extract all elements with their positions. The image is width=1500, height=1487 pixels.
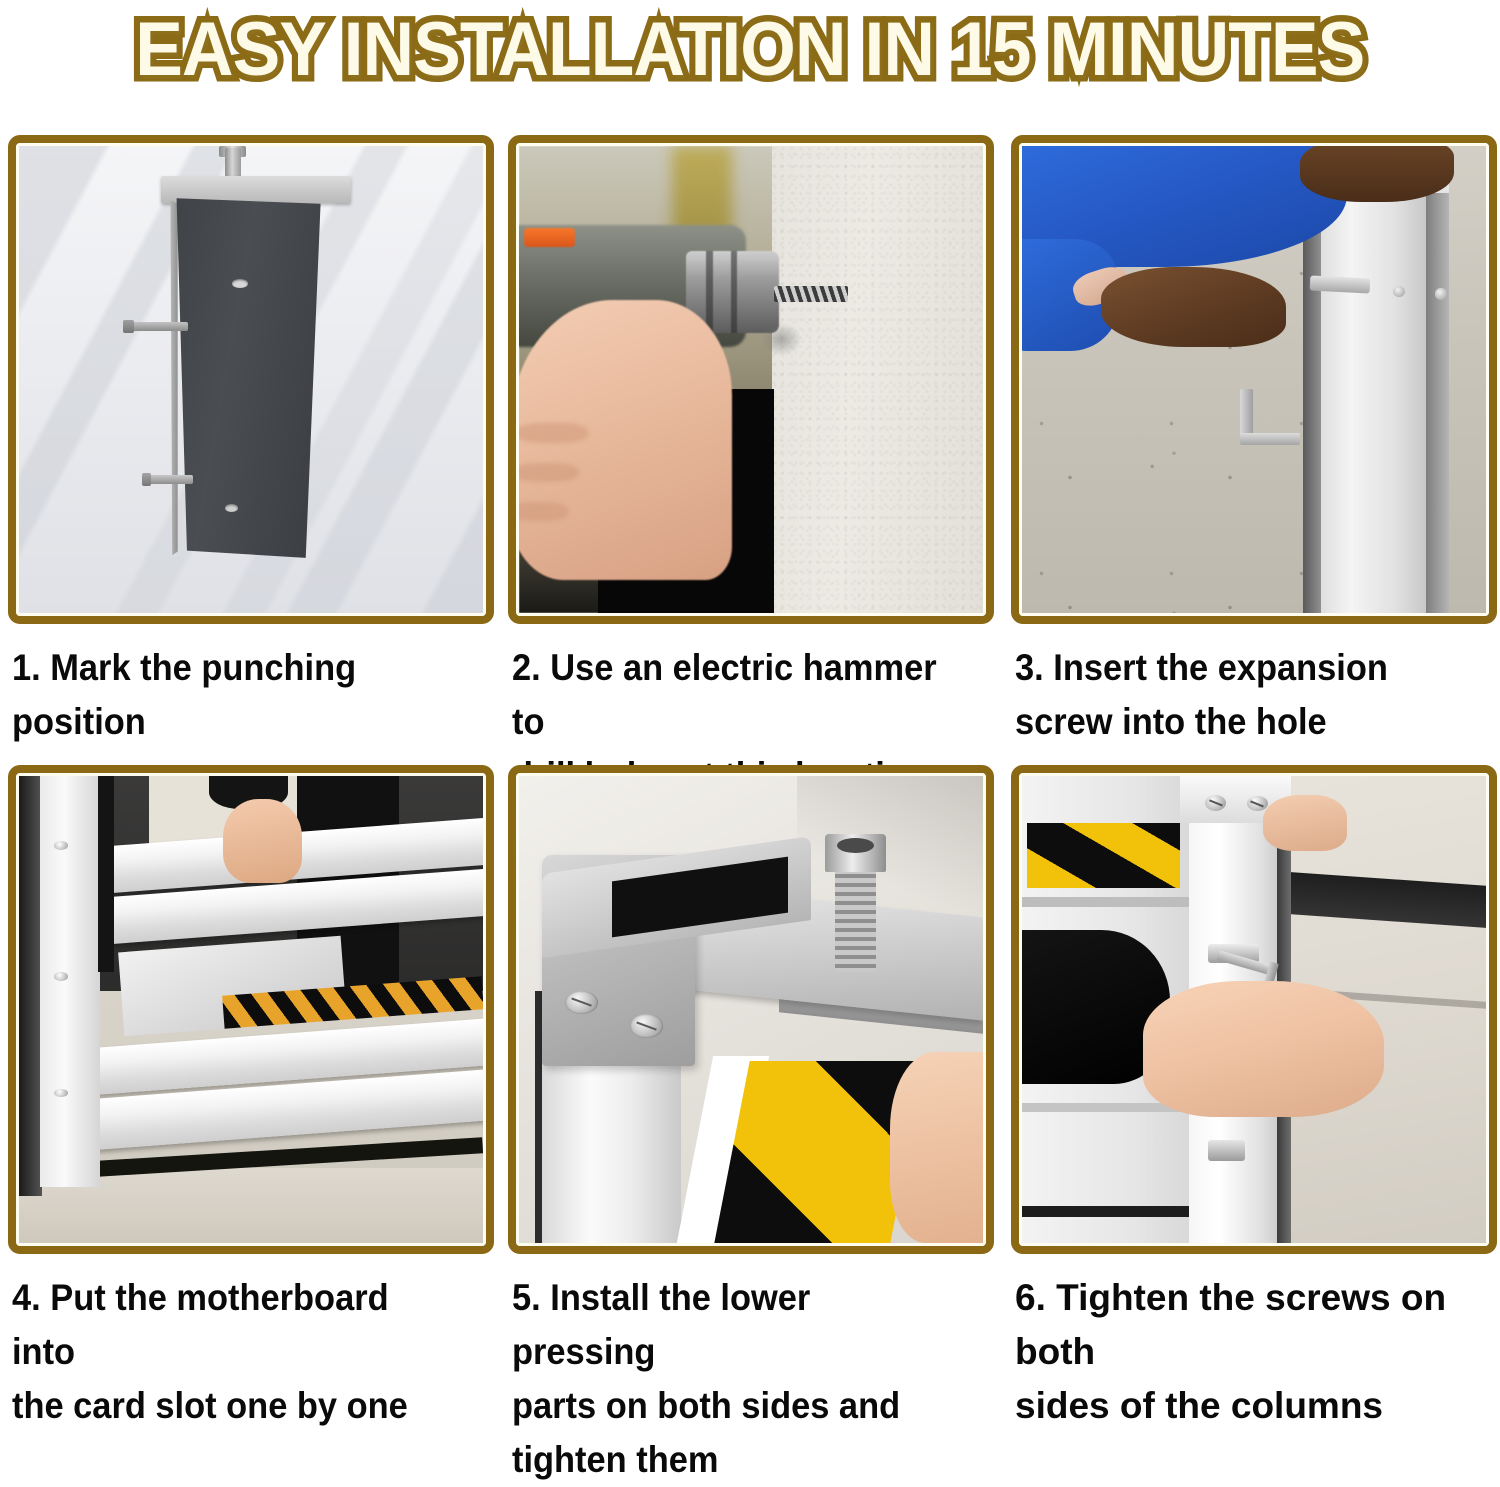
step-card-2: 2. Use an electric hammer to drill holes… xyxy=(508,135,994,755)
step-card-3: 3. Insert the expansion screw into the h… xyxy=(1011,135,1497,755)
step-card-6: 6. Tighten the screws on both sides of t… xyxy=(1011,765,1497,1395)
step-4-photo-inner-frame xyxy=(16,773,486,1246)
step-1-photo-inner-frame xyxy=(16,143,486,616)
drilling-wall-image xyxy=(519,146,983,613)
step-2-photo xyxy=(508,135,994,624)
step-2-photo-inner-frame xyxy=(516,143,986,616)
step-1-caption: 1. Mark the punching position xyxy=(12,641,446,749)
step-4-caption: 4. Put the motherboard into the card slo… xyxy=(12,1271,446,1433)
step-4-photo xyxy=(8,765,494,1254)
bracket-on-cloth-image xyxy=(19,146,483,613)
step-3-photo-inner-frame xyxy=(1019,143,1489,616)
step-6-caption: 6. Tighten the screws on both sides of t… xyxy=(1015,1271,1482,1433)
step-5-photo xyxy=(508,765,994,1254)
step-6-photo-inner-frame xyxy=(1019,773,1489,1246)
step-3-caption: 3. Insert the expansion screw into the h… xyxy=(1015,641,1449,749)
step-card-5: 5. Install the lower pressing parts on b… xyxy=(508,765,994,1395)
step-card-4: 4. Put the motherboard into the card slo… xyxy=(8,765,494,1395)
tighten-column-screws-image xyxy=(1022,776,1486,1243)
step-3-photo xyxy=(1011,135,1497,624)
lower-pressing-part-image xyxy=(519,776,983,1243)
expansion-screw-image xyxy=(1022,146,1486,613)
step-6-photo xyxy=(1011,765,1497,1254)
installation-steps-grid: 1. Mark the punching position xyxy=(0,0,1500,1403)
step-5-caption: 5. Install the lower pressing parts on b… xyxy=(512,1271,946,1487)
step-card-1: 1. Mark the punching position xyxy=(8,135,494,755)
step-5-photo-inner-frame xyxy=(516,773,986,1246)
step-1-photo xyxy=(8,135,494,624)
motherboard-card-slot-image xyxy=(19,776,483,1243)
